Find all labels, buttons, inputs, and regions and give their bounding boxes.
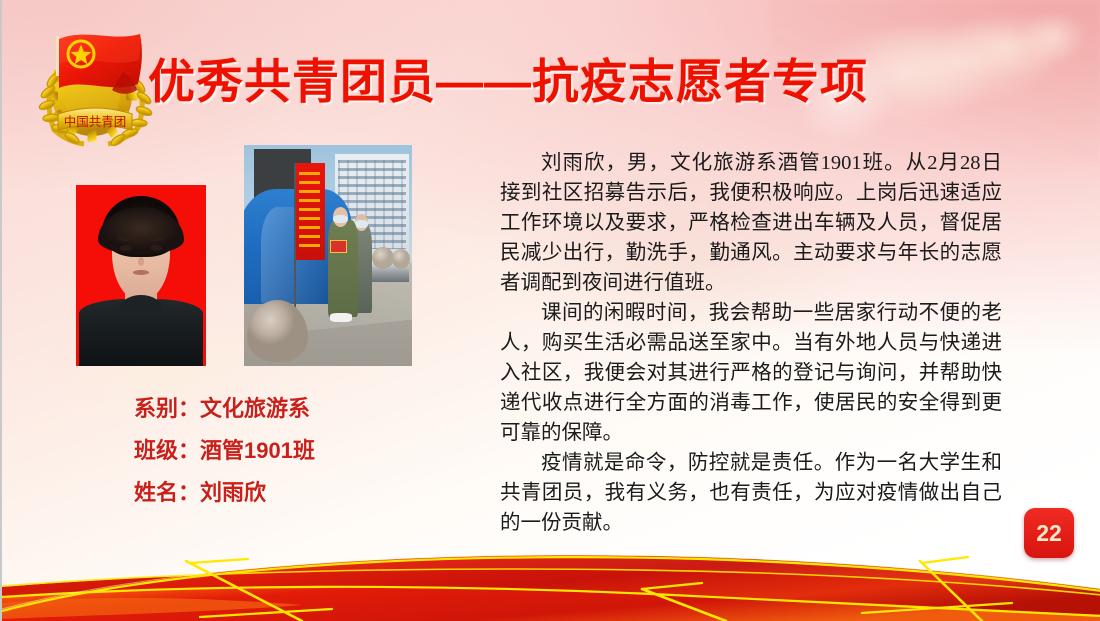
info-label-department: 系别： <box>134 396 200 421</box>
portrait-eye-right <box>150 245 162 251</box>
info-line-name: 姓名：刘雨欣 <box>134 472 474 514</box>
photo-stone-ball-3 <box>392 249 410 269</box>
bottom-ribbon-decoration <box>2 539 1100 621</box>
portrait-eye-left <box>120 245 132 251</box>
student-info-block: 系别：文化旅游系 班级：酒管1901班 姓名：刘雨欣 <box>134 388 474 514</box>
body-paragraph-2: 课间的闲暇时间，我会帮助一些居家行动不便的老人，购买生活必需品送至家中。当有外地… <box>500 298 1002 448</box>
photo-volunteer-armband <box>330 240 347 253</box>
emblem-banner-text: 中国共青团 <box>64 114 127 129</box>
body-paragraph-3: 疫情就是命令，防控就是责任。作为一名大学生和共青团员，我有义务，也有责任，为应对… <box>500 448 1002 538</box>
info-label-class: 班级： <box>134 438 200 463</box>
youth-league-emblem-icon: 中国共青团 <box>28 24 162 150</box>
photo-volunteer-main <box>328 220 358 317</box>
photo-volunteer-main-mask <box>333 215 348 224</box>
slide-canvas: 中国共青团 优秀共青团员——抗疫志愿者专项 <box>0 0 1100 621</box>
slide-title: 优秀共青团员——抗疫志愿者专项 <box>148 52 868 112</box>
info-line-class: 班级：酒管1901班 <box>134 430 474 472</box>
info-value-department: 文化旅游系 <box>200 396 310 421</box>
info-line-department: 系别：文化旅游系 <box>134 388 474 430</box>
photo-volunteer-second-mask <box>355 220 368 228</box>
info-label-name: 姓名： <box>134 480 200 505</box>
portrait-mouth <box>133 270 149 275</box>
photo-volunteer-shoes <box>330 313 352 322</box>
volunteer-duty-photo <box>244 145 412 366</box>
body-text-block: 刘雨欣，男，文化旅游系酒管1901班。从2月28日接到社区招募告示后，我便积极响… <box>500 148 1002 538</box>
info-value-name: 刘雨欣 <box>200 480 266 505</box>
body-paragraph-1: 刘雨欣，男，文化旅游系酒管1901班。从2月28日接到社区招募告示后，我便积极响… <box>500 148 1002 298</box>
portrait-eyebrow-left <box>118 237 134 241</box>
info-value-class: 酒管1901班 <box>200 438 315 463</box>
portrait-collar <box>119 295 163 317</box>
photo-stone-ball-2 <box>372 247 394 269</box>
photo-red-flag-lettering <box>299 172 319 247</box>
student-id-portrait <box>76 185 206 366</box>
portrait-eyebrow-right <box>149 237 165 241</box>
